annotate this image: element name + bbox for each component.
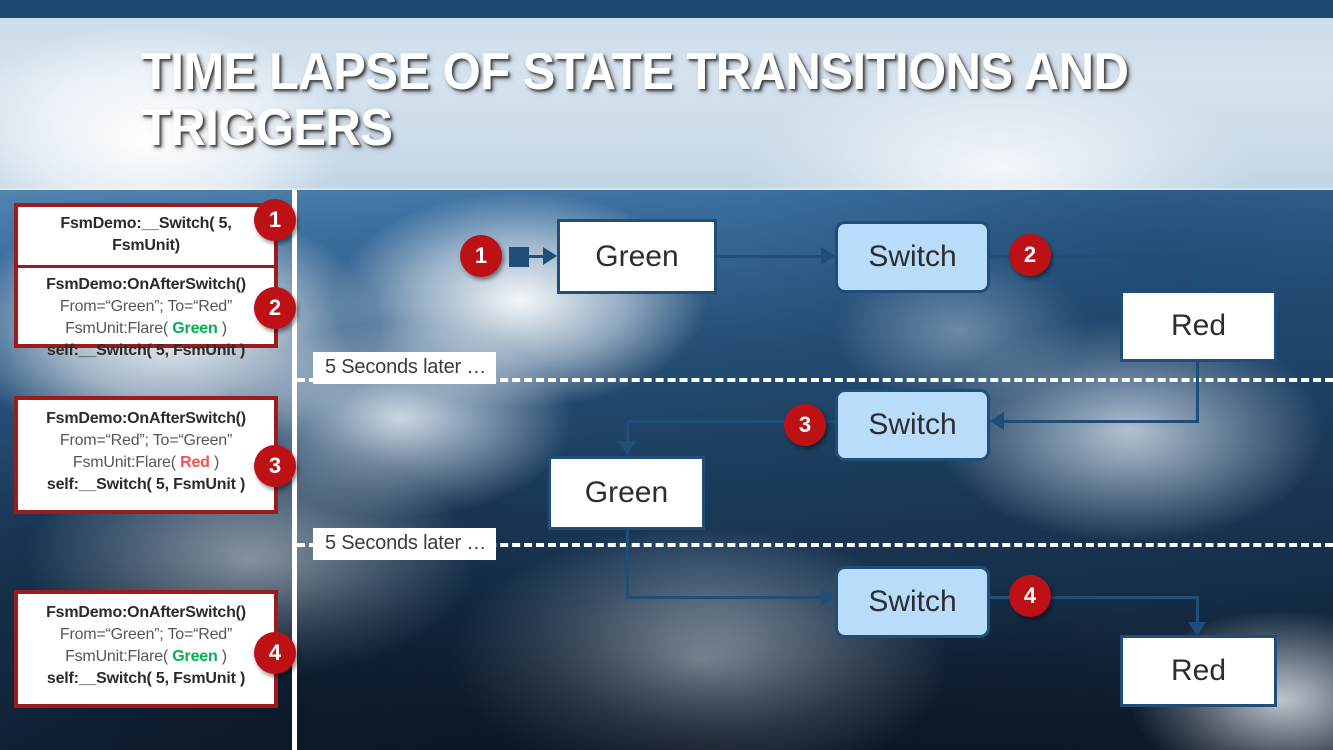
- connector-red1-down: [1196, 362, 1199, 422]
- code-line: self:__Switch( 5, FsmUnit ): [24, 340, 268, 362]
- code-box-1-part-a: FsmDemo:__Switch( 5, FsmUnit): [18, 207, 274, 265]
- badge-4-code: 4: [254, 632, 296, 674]
- connector-red1-to-switch2: [1004, 420, 1199, 423]
- node-red-2[interactable]: Red: [1120, 635, 1277, 707]
- time-separator-label-2: 5 Seconds later …: [313, 528, 496, 560]
- connector-green1-to-switch1: [717, 255, 823, 258]
- badge-4-diagram: 4: [1009, 575, 1051, 617]
- arrowhead-icon: [1188, 622, 1206, 636]
- code-line: FsmUnit): [24, 235, 268, 257]
- code-line: FsmDemo:OnAfterSwitch(): [24, 408, 268, 430]
- code-line: self:__Switch( 5, FsmUnit ): [24, 474, 268, 496]
- code-box-1: FsmDemo:__Switch( 5, FsmUnit) FsmDemo:On…: [14, 203, 278, 348]
- code-flare-suffix: ): [210, 454, 219, 471]
- badge-3-code: 3: [254, 445, 296, 487]
- code-line-flare: FsmUnit:Flare( Red ): [24, 452, 268, 474]
- code-line: FsmDemo:__Switch( 5,: [24, 213, 268, 235]
- node-switch-1[interactable]: Switch: [835, 221, 990, 293]
- code-flare-prefix: FsmUnit:Flare(: [73, 454, 180, 471]
- title-band-underline: [0, 188, 1333, 190]
- time-separator-label-1: 5 Seconds later …: [313, 352, 496, 384]
- arrowhead-icon: [990, 412, 1004, 430]
- code-flare-keyword: Green: [172, 320, 217, 337]
- node-switch-2[interactable]: Switch: [835, 389, 990, 461]
- code-line: From=“Green”; To=“Red”: [24, 296, 268, 318]
- code-flare-suffix: ): [218, 320, 227, 337]
- badge-1-code: 1: [254, 199, 296, 241]
- code-line: FsmDemo:OnAfterSwitch(): [24, 602, 268, 624]
- code-line: self:__Switch( 5, FsmUnit ): [24, 668, 268, 690]
- connector-green2-to-switch3: [626, 596, 823, 599]
- page-title: TIME LAPSE OF STATE TRANSITIONS AND TRIG…: [141, 44, 1147, 156]
- connector-switch3-to-red2-vertical: [1196, 596, 1199, 624]
- code-line-flare: FsmUnit:Flare( Green ): [24, 318, 268, 340]
- node-red-1[interactable]: Red: [1120, 290, 1277, 362]
- node-switch-3[interactable]: Switch: [835, 566, 990, 638]
- code-box-1-part-b: FsmDemo:OnAfterSwitch() From=“Green”; To…: [18, 268, 274, 370]
- code-flare-prefix: FsmUnit:Flare(: [65, 648, 172, 665]
- badge-1-diagram: 1: [460, 235, 502, 277]
- arrowhead-icon: [821, 247, 835, 265]
- badge-2-code: 2: [254, 287, 296, 329]
- badge-3-diagram: 3: [784, 404, 826, 446]
- code-line: FsmDemo:OnAfterSwitch(): [24, 274, 268, 296]
- node-green-2[interactable]: Green: [548, 456, 705, 530]
- connector-green2-down: [626, 530, 629, 598]
- code-flare-suffix: ): [218, 648, 227, 665]
- code-box-2: FsmDemo:OnAfterSwitch() From=“Red”; To=“…: [14, 396, 278, 514]
- arrowhead-icon: [1188, 277, 1206, 291]
- code-flare-prefix: FsmUnit:Flare(: [65, 320, 172, 337]
- arrowhead-icon: [618, 441, 636, 455]
- code-box-3: FsmDemo:OnAfterSwitch() From=“Green”; To…: [14, 590, 278, 708]
- badge-2-diagram: 2: [1009, 234, 1051, 276]
- code-line: From=“Red”; To=“Green”: [24, 430, 268, 452]
- arrowhead-icon: [543, 247, 557, 265]
- code-line: From=“Green”; To=“Red”: [24, 624, 268, 646]
- start-marker-icon: [509, 247, 529, 267]
- arrowhead-icon: [821, 588, 835, 606]
- code-line-flare: FsmUnit:Flare( Green ): [24, 646, 268, 668]
- node-green-1[interactable]: Green: [557, 219, 717, 294]
- code-flare-keyword: Green: [172, 648, 217, 665]
- connector-switch2-to-green2-vertical: [626, 420, 629, 443]
- top-accent-bar: [0, 0, 1333, 18]
- slide-root: TIME LAPSE OF STATE TRANSITIONS AND TRIG…: [0, 0, 1333, 750]
- connector-switch1-to-red1-vertical: [1196, 255, 1199, 279]
- code-flare-keyword: Red: [180, 454, 210, 471]
